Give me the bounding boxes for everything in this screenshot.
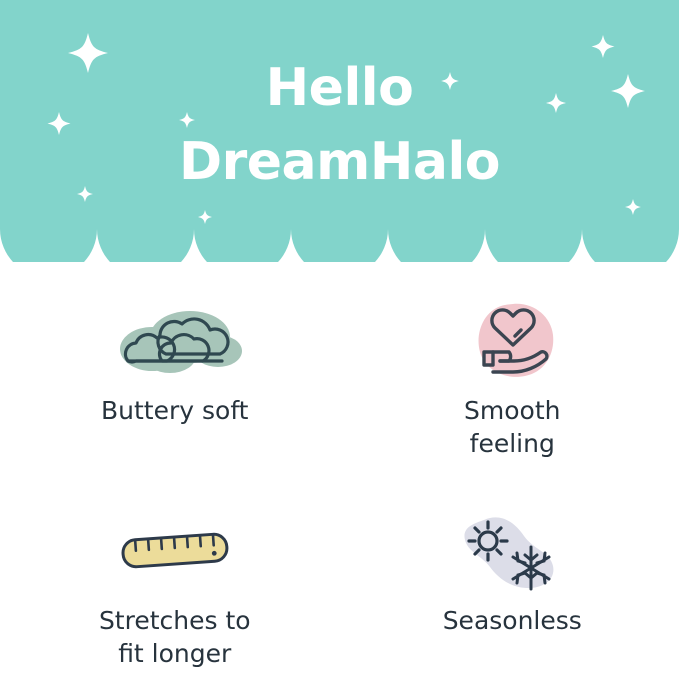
feature-item-stretches: Stretches to fit longer [0,498,340,678]
feature-item-smooth-feeling: Smooth feeling [340,300,679,480]
title-line-2: DreamHalo [0,126,679,200]
feature-item-seasonless: Seasonless [340,498,679,678]
feature-label-seasonless: Seasonless [443,604,582,637]
ruler-icon [115,510,235,592]
page-title: Hello DreamHalo [0,52,679,200]
header-banner: Hello DreamHalo [0,0,679,262]
cloud-cluster-icon [100,300,250,382]
feature-label-stretches: Stretches to fit longer [99,604,251,670]
promo-page: Hello DreamHalo [0,0,679,676]
feature-item-buttery-soft: Buttery soft [0,300,340,480]
title-line-1: Hello [0,52,679,126]
feature-grid: Buttery soft [0,300,679,678]
feature-label-smooth-feeling: Smooth feeling [464,394,560,460]
sun-snowflake-icon [454,510,570,592]
feature-label-buttery-soft: Buttery soft [101,394,249,427]
hand-holding-heart-icon [457,300,567,382]
